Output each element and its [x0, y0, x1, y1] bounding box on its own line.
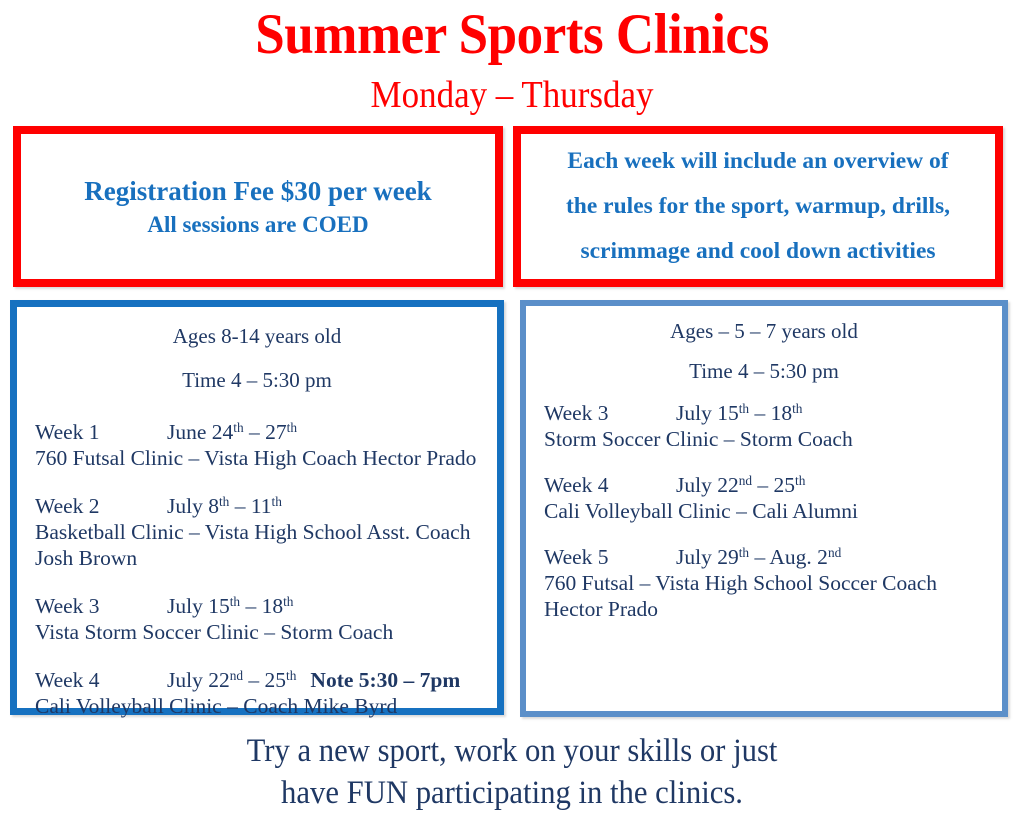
week-block: Week 4July 22nd – 25thCali Volleyball Cl…	[526, 472, 1002, 524]
week-label: Week 4	[544, 472, 676, 498]
week-detail-line: 760 Futsal – Vista High School Soccer Co…	[544, 570, 994, 596]
ordinal-suffix: th	[272, 494, 282, 509]
ordinal-suffix: th	[795, 473, 805, 488]
ordinal-suffix: th	[287, 420, 297, 435]
registration-fee-callout: Registration Fee $30 per week All sessio…	[13, 126, 503, 287]
closing-message-line-2: have FUN participating in the clinics.	[36, 772, 988, 814]
schedule-content-older: Ages 8-14 years old Time 4 – 5:30 pm Wee…	[17, 323, 497, 719]
overview-line-1: Each week will include an overview of	[567, 139, 948, 184]
week-block: Week 4July 22nd – 25thNote 5:30 – 7pmCal…	[17, 667, 497, 719]
closing-message-line-1: Try a new sport, work on your skills or …	[36, 730, 988, 772]
week-detail-line: Storm Soccer Clinic – Storm Coach	[544, 426, 994, 452]
week-heading: Week 5July 29th – Aug. 2nd	[544, 544, 994, 570]
week-detail-line: 760 Futsal Clinic – Vista High Coach Hec…	[35, 445, 489, 471]
ordinal-suffix: th	[233, 420, 243, 435]
week-heading: Week 3July 15th – 18th	[544, 400, 994, 426]
ordinal-suffix: nd	[739, 473, 752, 488]
week-detail-line: Josh Brown	[35, 545, 489, 571]
week-detail-line: Cali Volleyball Clinic – Cali Alumni	[544, 498, 994, 524]
ages-label-older: Ages 8-14 years old	[17, 323, 497, 349]
week-heading: Week 1June 24th – 27th	[35, 419, 489, 445]
time-label-younger: Time 4 – 5:30 pm	[526, 358, 1002, 384]
page-title: Summer Sports Clinics	[36, 2, 988, 68]
week-dates: July 29th – Aug. 2nd	[676, 545, 841, 569]
week-label: Week 5	[544, 544, 676, 570]
week-block: Week 5July 29th – Aug. 2nd760 Futsal – V…	[526, 544, 1002, 622]
weekly-overview-callout: Each week will include an overview of th…	[513, 126, 1003, 287]
week-dates: July 15th – 18th	[167, 594, 293, 618]
week-dates: July 15th – 18th	[676, 401, 802, 425]
week-label: Week 2	[35, 493, 167, 519]
week-detail-line: Basketball Clinic – Vista High School As…	[35, 519, 489, 545]
schedule-panel-ages-8-14: Ages 8-14 years old Time 4 – 5:30 pm Wee…	[10, 300, 504, 715]
ordinal-suffix: th	[286, 668, 296, 683]
schedule-content-younger: Ages – 5 – 7 years old Time 4 – 5:30 pm …	[526, 318, 1002, 622]
week-block: Week 3July 15th – 18thStorm Soccer Clini…	[526, 400, 1002, 452]
overview-line-2: the rules for the sport, warmup, drills,	[566, 184, 950, 229]
schedule-panel-ages-5-7: Ages – 5 – 7 years old Time 4 – 5:30 pm …	[520, 300, 1008, 717]
registration-fee-line: Registration Fee $30 per week	[84, 173, 431, 209]
week-dates: July 22nd – 25th	[676, 473, 805, 497]
week-heading: Week 2July 8th – 11th	[35, 493, 489, 519]
week-block: Week 1June 24th – 27th760 Futsal Clinic …	[17, 419, 497, 471]
closing-message: Try a new sport, work on your skills or …	[36, 730, 988, 814]
week-block: Week 2July 8th – 11thBasketball Clinic –…	[17, 493, 497, 571]
ordinal-suffix: th	[230, 594, 240, 609]
week-block: Week 3July 15th – 18thVista Storm Soccer…	[17, 593, 497, 645]
week-label: Week 4	[35, 667, 167, 693]
ordinal-suffix: th	[283, 594, 293, 609]
week-time-note: Note 5:30 – 7pm	[310, 668, 460, 692]
week-dates: July 8th – 11th	[167, 494, 282, 518]
ordinal-suffix: th	[739, 545, 749, 560]
ordinal-suffix: th	[792, 401, 802, 416]
ordinal-suffix: th	[739, 401, 749, 416]
week-heading: Week 3July 15th – 18th	[35, 593, 489, 619]
week-label: Week 3	[35, 593, 167, 619]
overview-line-3: scrimmage and cool down activities	[580, 229, 935, 274]
week-label: Week 1	[35, 419, 167, 445]
week-detail-line: Hector Prado	[544, 596, 994, 622]
time-label-older: Time 4 – 5:30 pm	[17, 367, 497, 393]
ages-label-younger: Ages – 5 – 7 years old	[526, 318, 1002, 344]
ordinal-suffix: nd	[230, 668, 243, 683]
weeks-list-younger: Week 3July 15th – 18thStorm Soccer Clini…	[526, 400, 1002, 622]
week-label: Week 3	[544, 400, 676, 426]
weeks-list-older: Week 1June 24th – 27th760 Futsal Clinic …	[17, 419, 497, 719]
page-subtitle: Monday – Thursday	[41, 73, 983, 117]
ordinal-suffix: th	[219, 494, 229, 509]
week-detail-line: Vista Storm Soccer Clinic – Storm Coach	[35, 619, 489, 645]
week-dates: June 24th – 27th	[167, 420, 297, 444]
week-heading: Week 4July 22nd – 25thNote 5:30 – 7pm	[35, 667, 489, 693]
week-dates: July 22nd – 25th	[167, 668, 296, 692]
coed-note-line: All sessions are COED	[147, 209, 368, 240]
week-heading: Week 4July 22nd – 25th	[544, 472, 994, 498]
week-detail-line: Cali Volleyball Clinic – Coach Mike Byrd	[35, 693, 489, 719]
ordinal-suffix: nd	[828, 545, 841, 560]
